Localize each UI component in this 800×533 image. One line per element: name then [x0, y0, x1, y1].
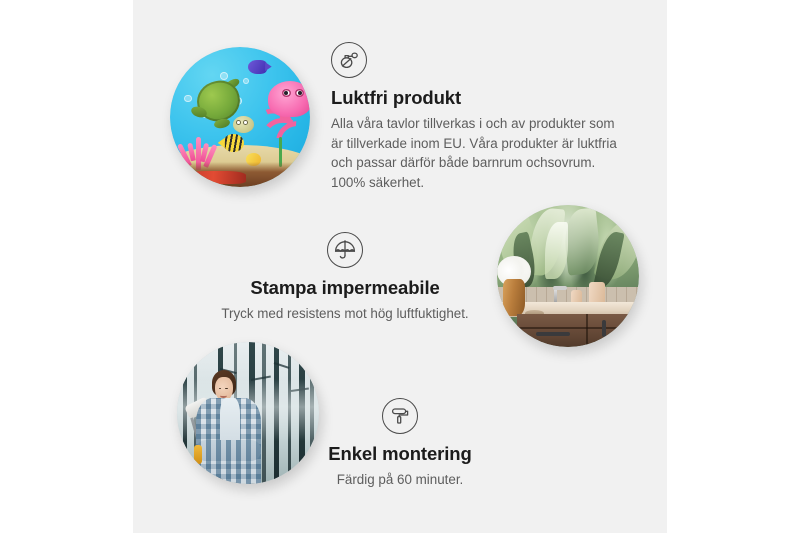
yellow-striped-fish-icon — [223, 134, 244, 152]
feature-title: Enkel montering — [300, 443, 500, 464]
feature-description: Tryck med resistens mot hög luftfuktighe… — [215, 304, 475, 324]
sea-turtle-icon — [190, 78, 252, 134]
feature-title: Luktfri produkt — [331, 87, 627, 108]
no-fragrance-icon — [331, 42, 367, 78]
installer-person — [191, 370, 271, 484]
feature-easy-mounting: Enkel montering Färdig på 60 minuter. — [300, 398, 500, 490]
room-floor-strip — [170, 162, 310, 187]
feature-waterproof: Stampa impermeabile Tryck med resistens … — [215, 232, 475, 324]
feature-title: Stampa impermeabile — [215, 277, 475, 298]
feature-scent-free: Luktfri produkt Alla våra tavlor tillver… — [331, 42, 627, 193]
promo-features-graphic: Luktfri produkt Alla våra tavlor tillver… — [0, 0, 800, 533]
copper-vase — [503, 279, 526, 316]
paint-roller-icon — [382, 398, 418, 434]
blue-fish-icon — [248, 60, 266, 74]
forest-mural-installer-thumbnail — [177, 342, 319, 484]
bathroom-botanical-wallpaper-thumbnail — [497, 205, 639, 347]
umbrella-icon — [327, 232, 363, 268]
underwater-kids-mural-thumbnail — [170, 47, 310, 187]
feature-description: Färdig på 60 minuter. — [300, 470, 500, 490]
wood-vanity-cabinet — [517, 314, 639, 347]
feature-description: Alla våra tavlor tillverkas i och av pro… — [331, 114, 627, 192]
octopus-icon — [254, 81, 310, 145]
